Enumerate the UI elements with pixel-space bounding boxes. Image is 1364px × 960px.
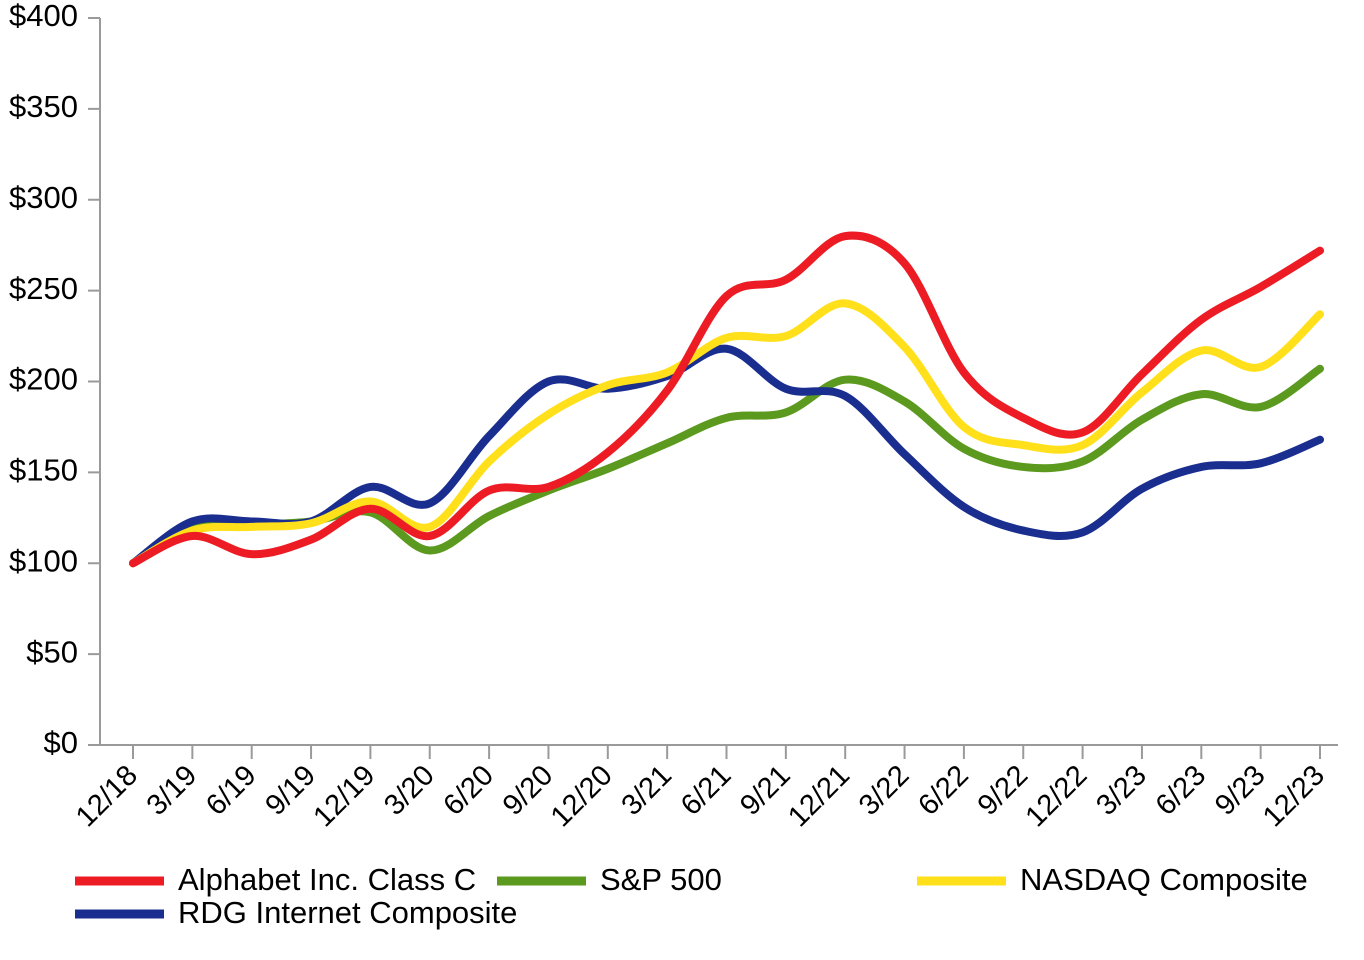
x-tick-label: 6/23 [1150,759,1213,822]
x-tick-label: 12/23 [1257,759,1331,833]
x-tick-label: 12/21 [782,759,856,833]
x-tick-label: 12/22 [1020,759,1094,833]
x-tick-label: 3/22 [853,759,916,822]
series-line-s-p-500 [133,369,1320,563]
x-tick-label: 3/23 [1090,759,1153,822]
legend-label-nasdaq-composite: NASDAQ Composite [1020,862,1308,897]
y-axis: $0$50$100$150$200$250$300$350$400 [9,0,100,760]
y-tick-label: $200 [9,362,78,397]
x-axis: 12/183/196/199/1912/193/206/209/2012/203… [70,745,1338,833]
x-tick-label: 6/20 [438,759,501,822]
y-tick-label: $250 [9,271,78,306]
y-tick-label: $400 [9,0,78,33]
legend-label-alphabet-inc-class-c: Alphabet Inc. Class C [178,862,476,897]
y-tick-label: $150 [9,453,78,488]
legend-label-s-p-500: S&P 500 [600,862,722,897]
series-line-nasdaq-composite [133,303,1320,563]
legend-label-rdg-internet-composite: RDG Internet Composite [178,895,517,930]
x-tick-label: 6/21 [675,759,738,822]
x-tick-label: 3/21 [616,759,679,822]
x-tick-label: 6/22 [912,759,975,822]
x-tick-label: 3/19 [141,759,204,822]
y-tick-label: $0 [44,725,78,760]
series-line-rdg-internet-composite [133,349,1320,564]
chart-legend: Alphabet Inc. Class CS&P 500NASDAQ Compo… [75,862,1308,930]
x-tick-label: 12/20 [545,759,619,833]
y-tick-label: $300 [9,180,78,215]
x-tick-label: 3/20 [378,759,441,822]
stock-performance-chart: $0$50$100$150$200$250$300$350$400 12/183… [0,0,1364,960]
x-tick-label: 12/18 [70,759,144,833]
x-tick-label: 6/19 [200,759,263,822]
y-tick-label: $100 [9,543,78,578]
series-lines [133,236,1320,564]
y-tick-label: $350 [9,89,78,124]
x-tick-label: 12/19 [307,759,381,833]
chart-canvas: $0$50$100$150$200$250$300$350$400 12/183… [0,0,1364,960]
y-tick-label: $50 [26,634,78,669]
series-line-alphabet-inc-class-c [133,236,1320,564]
